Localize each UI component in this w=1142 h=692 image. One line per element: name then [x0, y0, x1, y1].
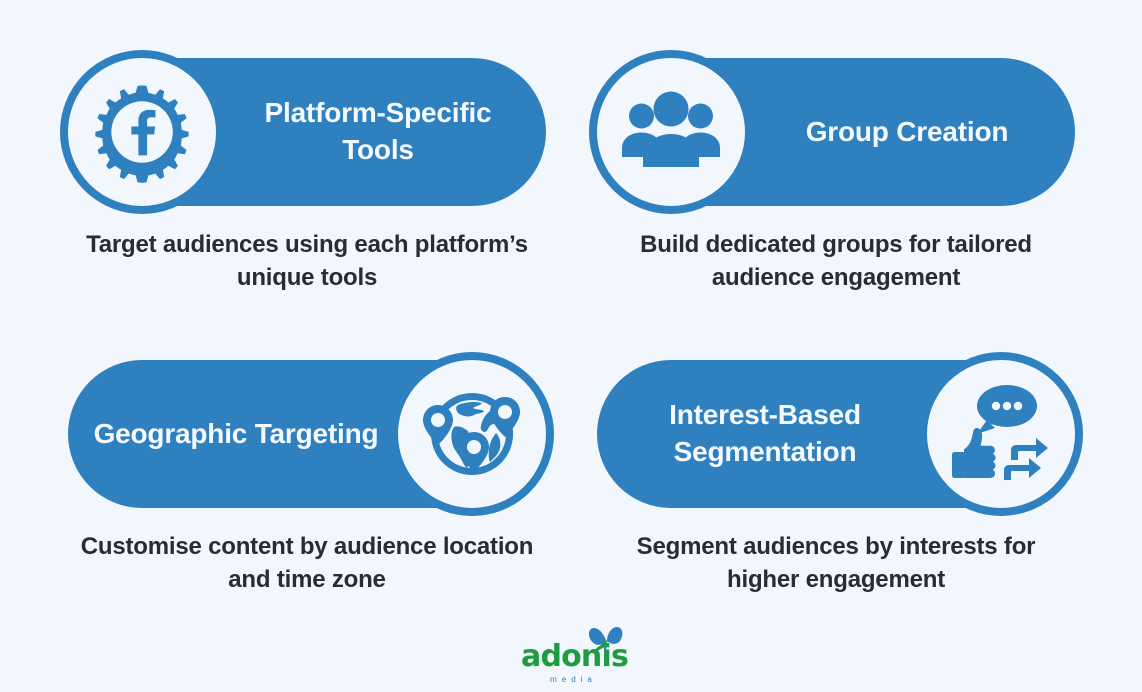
- pill-geographic-targeting: Geographic Targeting: [68, 360, 546, 508]
- card-caption: Build dedicated groups for tailored audi…: [597, 228, 1075, 294]
- gear-facebook-icon: [60, 50, 224, 214]
- card-platform-specific-tools: Platform-Specific Tools Target audiences…: [68, 58, 546, 294]
- globe-pins-icon: [390, 352, 554, 516]
- card-title: Group Creation: [757, 114, 1057, 151]
- card-title: Geographic Targeting: [86, 416, 386, 453]
- logo-mark: adonis: [519, 628, 623, 674]
- pill-group-creation: Group Creation: [597, 58, 1075, 206]
- card-group-creation: Group Creation Build dedicated groups fo…: [597, 58, 1075, 294]
- brand-logo: adonis media: [0, 628, 1142, 684]
- thumbs-up-icon: [952, 428, 996, 478]
- card-caption: Customise content by audience location a…: [68, 530, 546, 596]
- card-caption: Target audiences using each platform’s u…: [68, 228, 546, 294]
- people-group-icon: [589, 50, 753, 214]
- pill-platform-specific-tools: Platform-Specific Tools: [68, 58, 546, 206]
- card-geographic-targeting: Geographic Targeting: [68, 360, 546, 596]
- repost-icon: [1004, 437, 1048, 484]
- logo-tagline: media: [545, 675, 597, 684]
- engagement-icons: [919, 352, 1083, 516]
- pill-interest-based-segmentation: Interest-Based Segmentation: [597, 360, 1075, 508]
- card-interest-based-segmentation: Interest-Based Segmentation: [597, 360, 1075, 596]
- card-caption: Segment audiences by interests for highe…: [597, 530, 1075, 596]
- infographic-board: Platform-Specific Tools Target audiences…: [0, 0, 1142, 692]
- butterfly-icon: [585, 624, 625, 661]
- card-title: Platform-Specific Tools: [228, 95, 528, 169]
- chat-bubble-icon: [977, 385, 1037, 434]
- card-title: Interest-Based Segmentation: [615, 397, 915, 471]
